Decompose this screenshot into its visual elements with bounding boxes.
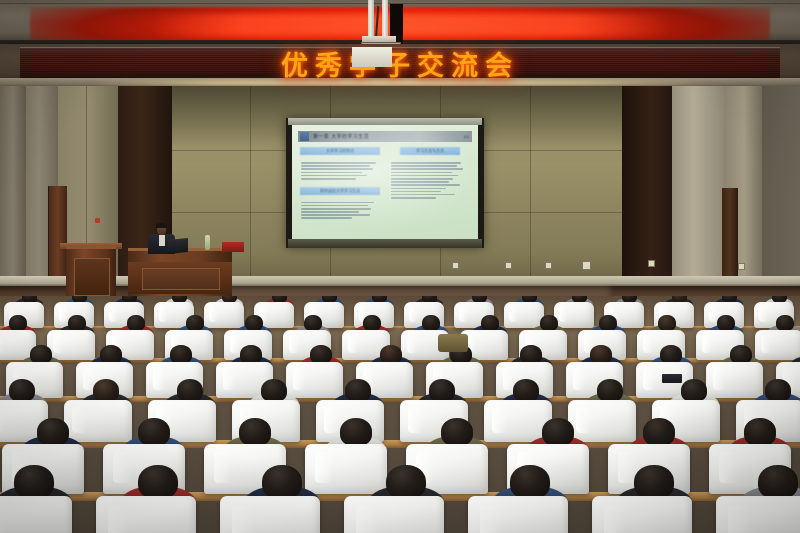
wall-outlet xyxy=(545,262,552,269)
red-nameplate xyxy=(222,242,244,252)
audience-person-head xyxy=(261,379,287,402)
audience-person-head xyxy=(660,345,682,364)
chair-cover xyxy=(755,330,800,360)
chair-cover xyxy=(504,302,544,328)
audience-person-head xyxy=(186,315,204,331)
right-stone-pillar xyxy=(672,86,726,282)
projector-mount-pole xyxy=(382,0,388,40)
slide-right-column: 学习方法与方式 xyxy=(390,147,470,233)
chair-cover xyxy=(305,444,387,494)
screen-bottom-bar xyxy=(288,239,482,248)
audience-person-head xyxy=(245,315,263,331)
audience-person-head xyxy=(380,345,402,364)
audience-person-head xyxy=(744,418,776,446)
audience-person-head xyxy=(170,345,192,364)
audience-person-head xyxy=(597,379,623,402)
slide-block-text xyxy=(390,160,470,201)
slide-block-heading: 大学学习的特点 xyxy=(300,147,380,155)
audience-person-head xyxy=(441,418,473,446)
audience-person-head xyxy=(513,379,539,402)
audience-person-head xyxy=(658,315,676,331)
banner-sheen xyxy=(20,47,780,57)
audience-person-head xyxy=(100,345,122,364)
wall-seam xyxy=(530,86,531,282)
projection-screen: 第一章 大学的学习生活 1/1 大学学习的特点 如何适应大学学习生活 xyxy=(292,125,478,241)
left-stone-pillar xyxy=(0,86,28,282)
audience-person-head xyxy=(758,465,798,499)
slide-title-bar: 第一章 大学的学习生活 1/1 xyxy=(298,131,472,142)
audience-person-head xyxy=(345,379,371,402)
wall-seam xyxy=(250,86,251,282)
chair-cover xyxy=(344,496,444,533)
chair-cover xyxy=(716,496,800,533)
audience-person-head xyxy=(590,345,612,364)
wall-outlet xyxy=(505,262,512,269)
audience-person-head xyxy=(30,345,52,364)
left-side-door[interactable] xyxy=(48,186,67,282)
audience-person-head xyxy=(717,315,735,331)
audience-person-head xyxy=(643,418,675,446)
audience-person-head xyxy=(634,465,674,499)
audience-person-head xyxy=(262,465,302,499)
audience-person-head xyxy=(730,345,752,364)
audience-person-head xyxy=(429,379,455,402)
audience-person-head xyxy=(422,315,440,331)
chair-cover xyxy=(706,362,763,398)
slide-badge-icon xyxy=(300,132,309,141)
audience-person-head xyxy=(599,315,617,331)
audience-person-head xyxy=(37,418,69,446)
projector-mount-pole xyxy=(368,0,374,40)
slide-block-text xyxy=(300,160,380,182)
audience-person-head xyxy=(542,418,574,446)
audience-person-head xyxy=(9,315,27,331)
water-bottle xyxy=(205,235,210,250)
chair-cover xyxy=(220,496,320,533)
slide-block-heading: 如何适应大学学习生活 xyxy=(300,187,380,195)
audience-laptop xyxy=(662,374,682,383)
slide-title: 第一章 大学的学习生活 xyxy=(313,133,369,140)
ceiling-red-light-core xyxy=(150,14,670,36)
auditorium-photo: 优秀学子交流会 第一章 大学的学习生活 1/1 xyxy=(0,0,800,533)
presenter-shirt xyxy=(159,235,165,246)
chair-cover xyxy=(96,496,196,533)
slide-body: 大学学习的特点 如何适应大学学习生活 学习方法与方式 xyxy=(300,147,470,233)
audience-person-head xyxy=(138,465,178,499)
audience-person-head xyxy=(340,418,372,446)
audience-bag xyxy=(438,334,468,352)
audience-person-head xyxy=(681,379,707,402)
head-table-panel xyxy=(142,268,220,290)
chair-cover xyxy=(0,496,72,533)
audience-person-head xyxy=(363,315,381,331)
audience-seating xyxy=(0,296,800,533)
audience-person-head xyxy=(9,379,35,402)
audience-person-head xyxy=(765,379,791,402)
audience-person-head xyxy=(386,465,426,499)
audience-person-head xyxy=(240,345,262,364)
lectern-front-panel xyxy=(74,258,110,296)
chair-cover xyxy=(554,302,594,328)
audience-person-head xyxy=(776,315,794,331)
screen-roller xyxy=(288,118,482,125)
audience-person-head xyxy=(14,465,54,499)
wall-outlet xyxy=(648,260,655,267)
audience-person-head xyxy=(481,315,499,331)
right-edge-wall xyxy=(762,86,800,282)
chair-cover xyxy=(568,400,636,442)
presenter-hair xyxy=(156,223,167,228)
slide-block-text xyxy=(300,200,380,222)
chair-cover xyxy=(468,496,568,533)
slide-page-indicator: 1/1 xyxy=(463,134,469,139)
chair-cover xyxy=(286,362,343,398)
wall-outlet xyxy=(582,261,591,270)
right-curtain xyxy=(622,86,674,282)
right-side-door[interactable] xyxy=(722,188,738,282)
audience-person-head xyxy=(138,418,170,446)
chair-cover xyxy=(592,496,692,533)
audience-person-head xyxy=(177,379,203,402)
chair-cover xyxy=(64,400,132,442)
audience-person-head xyxy=(127,315,145,331)
audience-person-head xyxy=(239,418,271,446)
exit-light-icon xyxy=(95,218,100,223)
audience-person-head xyxy=(93,379,119,402)
presenter-laptop xyxy=(168,238,188,254)
slide-left-column: 大学学习的特点 如何适应大学学习生活 xyxy=(300,147,380,233)
slide-block-heading: 学习方法与方式 xyxy=(400,147,459,155)
wall-outlet xyxy=(738,263,745,270)
audience-person-head xyxy=(510,465,550,499)
audience-person-head xyxy=(310,345,332,364)
audience-person-head xyxy=(540,315,558,331)
chair-cover xyxy=(47,330,95,360)
chair-cover xyxy=(204,302,244,328)
wall-outlet xyxy=(452,262,459,269)
audience-person-head xyxy=(68,315,86,331)
audience-person-head xyxy=(520,345,542,364)
audience-person-head xyxy=(304,315,322,331)
